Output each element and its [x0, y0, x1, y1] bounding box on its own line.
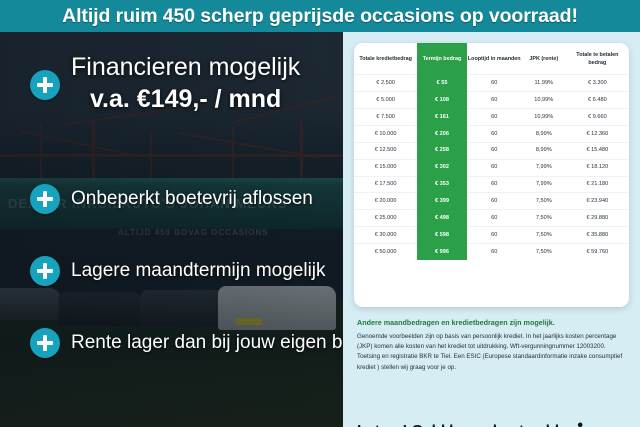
- table-header-cell: Totale te betalen bedrag: [566, 44, 629, 75]
- table-cell: € 20.000: [354, 193, 417, 210]
- table-cell: € 29.880: [566, 210, 629, 227]
- table-row: € 2.500€ 556011,99%€ 3.300: [354, 75, 629, 92]
- table-cell: € 12.360: [566, 125, 629, 142]
- table-row: € 30.000€ 598607,50%€ 35.880: [354, 227, 629, 244]
- table-cell: € 55: [417, 75, 467, 92]
- table-row: € 17.500€ 353607,99%€ 21.180: [354, 176, 629, 193]
- table-cell: 7,99%: [522, 159, 566, 176]
- plus-icon: [30, 70, 60, 100]
- table-header-cell: Totale kredietbedrag: [354, 44, 417, 75]
- table-cell: € 258: [417, 142, 467, 159]
- feature-finance-line1: Financieren mogelijk: [71, 52, 300, 82]
- table-row: € 20.000€ 399607,50%€ 23.940: [354, 193, 629, 210]
- table-cell: € 50.000: [354, 244, 417, 260]
- table-cell: € 17.500: [354, 176, 417, 193]
- table-cell: € 6.480: [566, 92, 629, 109]
- table-cell: € 25.000: [354, 210, 417, 227]
- feature-item-onbeperkt-aflossen: Onbeperkt boetevrij aflossen: [0, 184, 313, 214]
- headline-text: Altijd ruim 450 scherp geprijsde occasio…: [62, 5, 578, 28]
- table-cell: € 23.940: [566, 193, 629, 210]
- table-cell: 7,50%: [522, 193, 566, 210]
- table-cell: 7,50%: [522, 227, 566, 244]
- rate-table-card: Totale kredietbedragTermijn bedragLoopti…: [354, 43, 629, 307]
- table-header-cell: JPK (rente): [522, 44, 566, 75]
- feature-item-rente-lager: Rente lager dan bij jouw eigen bank: [0, 328, 373, 358]
- table-header-cell: Looptijd in maanden: [467, 44, 522, 75]
- feature-label: Onbeperkt boetevrij aflossen: [71, 188, 313, 210]
- table-cell: € 59.760: [566, 244, 629, 260]
- feature-finance-lines: Financieren mogelijk v.a. €149,- / mnd: [71, 52, 300, 115]
- plus-icon: [30, 328, 60, 358]
- table-cell: € 9.660: [566, 109, 629, 126]
- table-cell: 60: [467, 193, 522, 210]
- table-cell: 7,99%: [522, 176, 566, 193]
- disclaimer-body: Genoemde voorbeelden zijn op basis van p…: [357, 332, 629, 372]
- headline-bar: Altijd ruim 450 scherp geprijsde occasio…: [0, 0, 640, 32]
- table-cell: € 30.000: [354, 227, 417, 244]
- table-cell: € 35.880: [566, 227, 629, 244]
- table-cell: € 18.120: [566, 159, 629, 176]
- table-cell: 7,50%: [522, 244, 566, 260]
- table-cell: 60: [467, 75, 522, 92]
- table-row: € 7.500€ 1616010,99%€ 9.660: [354, 109, 629, 126]
- table-cell: € 21.180: [566, 176, 629, 193]
- table-cell: 60: [467, 159, 522, 176]
- feature-label: Rente lager dan bij jouw eigen bank: [71, 332, 373, 354]
- table-cell: 60: [467, 142, 522, 159]
- table-cell: 7,50%: [522, 210, 566, 227]
- table-header-row: Totale kredietbedragTermijn bedragLoopti…: [354, 44, 629, 75]
- table-cell: 11,99%: [522, 75, 566, 92]
- table-cell: € 353: [417, 176, 467, 193]
- running-man-with-weight-icon: [565, 422, 587, 427]
- table-cell: 60: [467, 109, 522, 126]
- feature-label: Lagere maandtermijn mogelijk: [71, 260, 326, 282]
- table-cell: € 10.000: [354, 125, 417, 142]
- table-cell: € 2.500: [354, 75, 417, 92]
- table-header-cell: Termijn bedrag: [417, 44, 467, 75]
- table-cell: € 161: [417, 109, 467, 126]
- plus-icon: [30, 184, 60, 214]
- table-cell: € 3.300: [566, 75, 629, 92]
- feature-item-lagere-maandtermijn: Lagere maandtermijn mogelijk: [0, 256, 326, 286]
- table-cell: 60: [467, 227, 522, 244]
- table-cell: 60: [467, 176, 522, 193]
- finance-promo-banner: DEALER INRUILAUTO'S JOHAN MEURS ALTIJD 4…: [0, 0, 640, 427]
- table-cell: € 996: [417, 244, 467, 260]
- rate-table: Totale kredietbedragTermijn bedragLoopti…: [354, 43, 629, 260]
- table-cell: € 5.000: [354, 92, 417, 109]
- table-cell: 60: [467, 244, 522, 260]
- table-cell: 10,99%: [522, 109, 566, 126]
- feature-finance-block: Financieren mogelijk v.a. €149,- / mnd: [0, 52, 345, 115]
- table-cell: 10,99%: [522, 92, 566, 109]
- table-row: € 15.000€ 302607,99%€ 18.120: [354, 159, 629, 176]
- table-cell: € 12.500: [354, 142, 417, 159]
- table-cell: € 7.500: [354, 109, 417, 126]
- table-row: € 50.000€ 996607,50%€ 59.760: [354, 244, 629, 260]
- loan-warning: Let op! Geld lenen kost geld: [357, 422, 587, 427]
- disclaimer-block: Andere maandbedragen en kredietbedragen …: [357, 318, 629, 373]
- table-cell: € 399: [417, 193, 467, 210]
- plus-icon: [30, 256, 60, 286]
- disclaimer-title: Andere maandbedragen en kredietbedragen …: [357, 318, 629, 327]
- table-cell: € 498: [417, 210, 467, 227]
- feature-icon-wrap: [30, 52, 60, 100]
- table-cell: 60: [467, 92, 522, 109]
- table-cell: € 598: [417, 227, 467, 244]
- table-cell: € 108: [417, 92, 467, 109]
- table-row: € 25.000€ 498607,50%€ 29.880: [354, 210, 629, 227]
- table-cell: 60: [467, 210, 522, 227]
- table-cell: € 15.480: [566, 142, 629, 159]
- feature-finance-line2: v.a. €149,- / mnd: [90, 84, 281, 115]
- warning-text: Let op! Geld lenen kost geld: [357, 423, 559, 427]
- table-cell: 8,99%: [522, 125, 566, 142]
- table-row: € 5.000€ 1086010,99%€ 6.480: [354, 92, 629, 109]
- table-cell: 8,99%: [522, 142, 566, 159]
- table-cell: € 302: [417, 159, 467, 176]
- table-row: € 12.500€ 258608,99%€ 15.480: [354, 142, 629, 159]
- feature-list: Financieren mogelijk v.a. €149,- / mnd O…: [0, 32, 345, 427]
- finance-info-panel: Totale kredietbedragTermijn bedragLoopti…: [343, 32, 640, 427]
- table-cell: € 15.000: [354, 159, 417, 176]
- table-cell: 60: [467, 125, 522, 142]
- table-row: € 10.000€ 206608,99%€ 12.360: [354, 125, 629, 142]
- table-cell: € 206: [417, 125, 467, 142]
